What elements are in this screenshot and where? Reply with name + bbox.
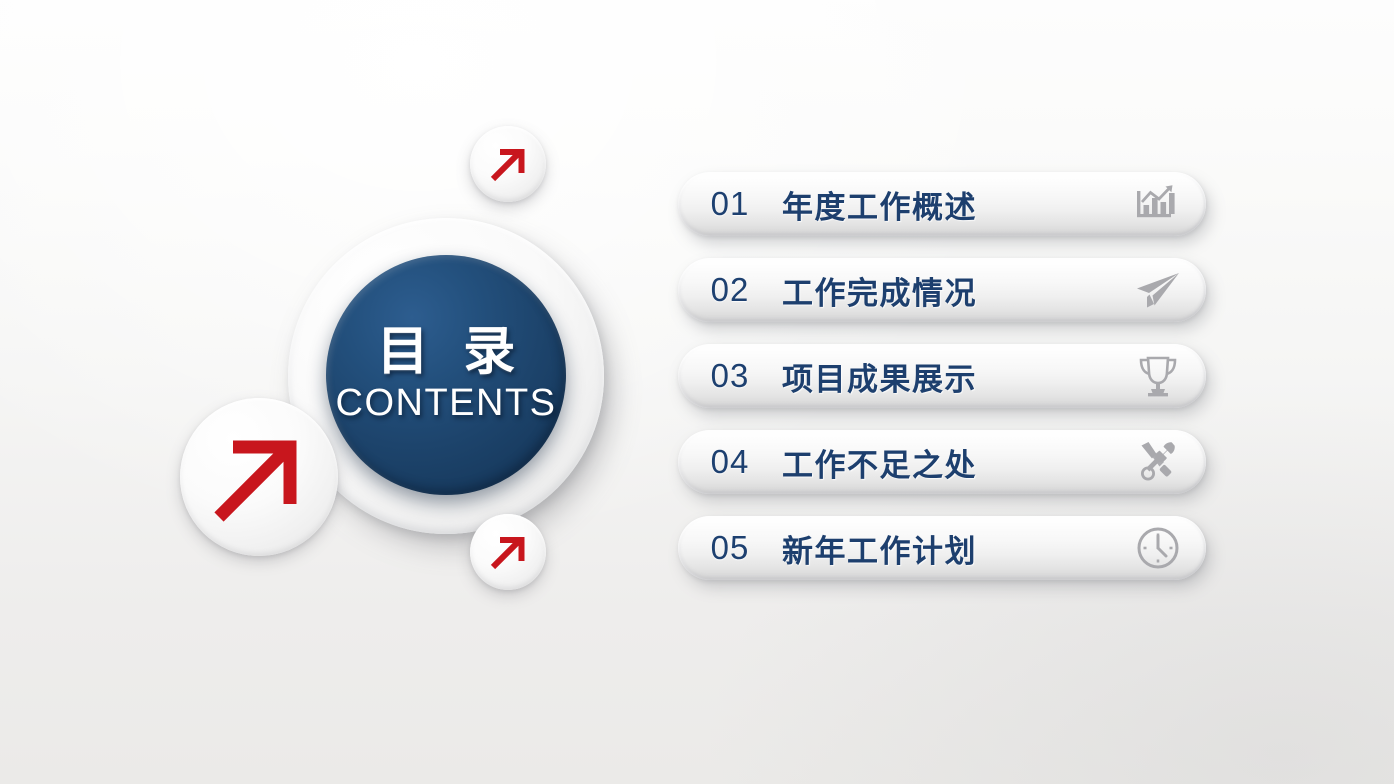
paper-plane-icon bbox=[1110, 269, 1206, 311]
contents-item-03[interactable]: 03 项目成果展示 bbox=[678, 344, 1206, 408]
trophy-icon bbox=[1110, 353, 1206, 399]
bar-chart-growth-icon bbox=[1110, 183, 1206, 225]
contents-item-04[interactable]: 04 工作不足之处 bbox=[678, 430, 1206, 494]
item-label: 年度工作概述 bbox=[782, 182, 1110, 227]
item-label: 工作完成情况 bbox=[782, 268, 1110, 313]
wrench-screwdriver-icon bbox=[1110, 439, 1206, 485]
arrow-bubble-bottom bbox=[470, 514, 546, 590]
item-number: 03 bbox=[678, 357, 782, 395]
contents-item-02[interactable]: 02 工作完成情况 bbox=[678, 258, 1206, 322]
contents-inner-disc: 目 录 CONTENTS bbox=[326, 255, 566, 495]
arrow-up-right-icon bbox=[486, 142, 530, 186]
contents-subtitle: CONTENTS bbox=[336, 382, 557, 425]
item-number: 01 bbox=[678, 185, 782, 223]
contents-title: 目 录 bbox=[367, 325, 525, 379]
item-number: 04 bbox=[678, 443, 782, 481]
arrow-up-right-icon bbox=[486, 530, 530, 574]
item-number: 05 bbox=[678, 529, 782, 567]
item-label: 项目成果展示 bbox=[782, 354, 1110, 399]
contents-list: 01 年度工作概述 02 bbox=[678, 172, 1206, 580]
clock-icon bbox=[1110, 525, 1206, 571]
contents-item-01[interactable]: 01 年度工作概述 bbox=[678, 172, 1206, 236]
item-label: 工作不足之处 bbox=[782, 440, 1110, 485]
item-label: 新年工作计划 bbox=[782, 526, 1110, 571]
contents-item-05[interactable]: 05 新年工作计划 bbox=[678, 516, 1206, 580]
arrow-bubble-left bbox=[180, 398, 338, 556]
item-number: 02 bbox=[678, 271, 782, 309]
arrow-bubble-top bbox=[470, 126, 546, 202]
presentation-slide: 目 录 CONTENTS bbox=[0, 0, 1394, 784]
arrow-up-right-icon bbox=[207, 425, 311, 529]
contents-badge-graphic: 目 录 CONTENTS bbox=[0, 0, 660, 784]
